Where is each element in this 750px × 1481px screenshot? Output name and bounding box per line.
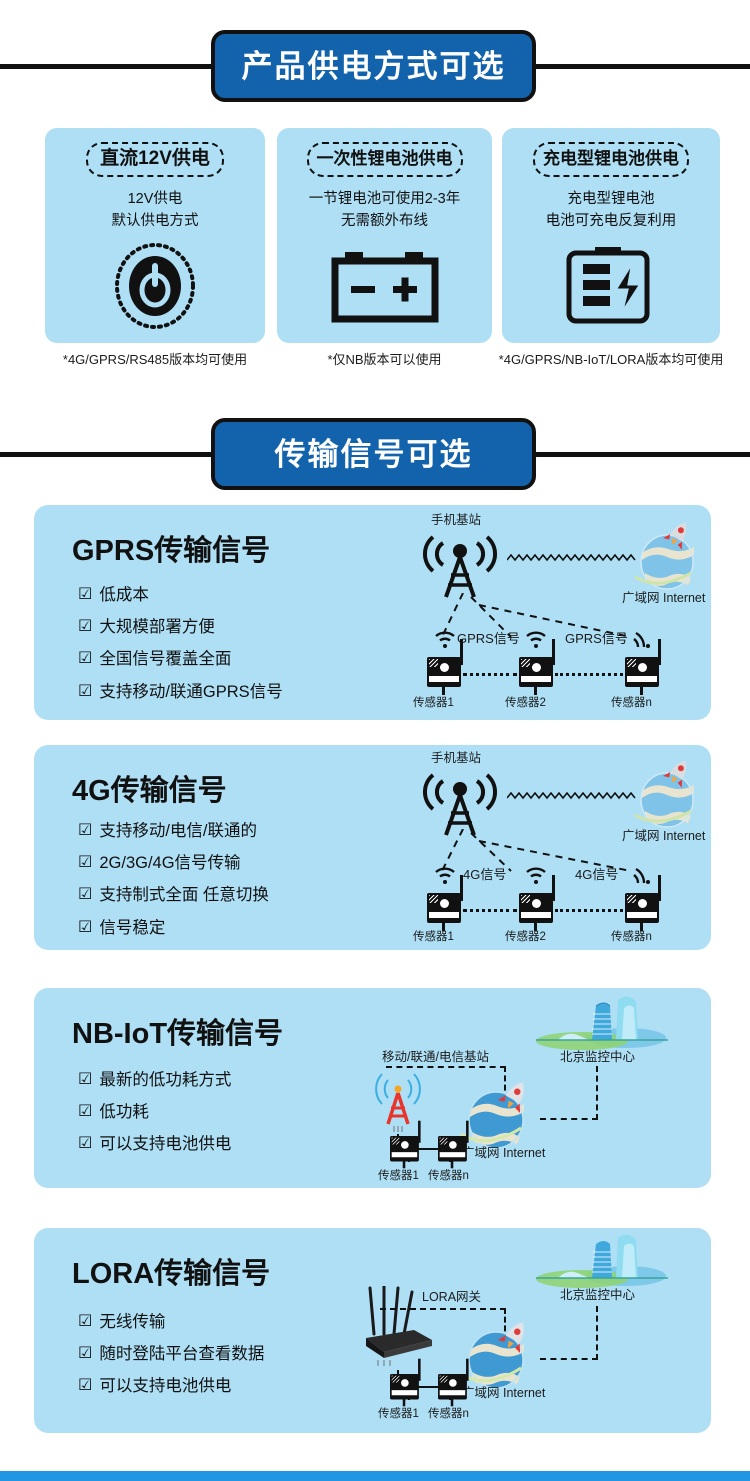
- bullet-label: 2G/3G/4G信号传输: [99, 847, 240, 879]
- panel-bullet-list: ☑低成本 ☑大规模部署方便 ☑全国信号覆盖全面 ☑支持移动/联通GPRS信号: [78, 579, 283, 708]
- power-card-footnote: *4G/GPRS/NB-IoT/LORA版本均可使用: [497, 350, 725, 370]
- city-skyline-icon: [530, 994, 670, 1052]
- internet-label: 广域网 Internet: [462, 1146, 545, 1161]
- base-station-label: 移动/联通/电信基站: [382, 1050, 489, 1065]
- panel-title: 4G传输信号: [72, 767, 227, 809]
- bottom-accent-bar: [0, 1471, 750, 1481]
- checkbox-icon: ☑: [78, 912, 92, 943]
- sensor-label: 传感器1: [413, 697, 454, 711]
- list-item: ☑2G/3G/4G信号传输: [78, 847, 269, 879]
- power-card-footnote: *4G/GPRS/RS485版本均可使用: [45, 350, 265, 370]
- checkbox-icon: ☑: [78, 643, 92, 674]
- panel-bullet-list: ☑最新的低功耗方式 ☑低功耗 ☑可以支持电池供电: [78, 1064, 231, 1161]
- bullet-label: 可以支持电池供电: [99, 1370, 231, 1402]
- power-card-dc12v: 直流12V供电 12V供电 默认供电方式: [45, 128, 265, 343]
- checkbox-icon: ☑: [78, 1096, 92, 1127]
- checkbox-icon: ☑: [78, 1370, 92, 1401]
- sensor-chain-link: [463, 909, 517, 912]
- power-card-title: 直流12V供电: [86, 142, 224, 177]
- center-link-v: [596, 1066, 598, 1120]
- panel-title: GPRS传输信号: [72, 527, 270, 569]
- signal-banner-title: 传输信号可选: [275, 439, 473, 470]
- signal-panel-gprs: GPRS传输信号 ☑低成本 ☑大规模部署方便 ☑全国信号覆盖全面 ☑支持移动/联…: [34, 505, 711, 720]
- signal-panel-nbiot: NB-IoT传输信号 ☑最新的低功耗方式 ☑低功耗 ☑可以支持电池供电: [34, 988, 711, 1188]
- list-item: ☑全国信号覆盖全面: [78, 643, 283, 675]
- checkbox-icon: ☑: [78, 611, 92, 642]
- bullet-label: 低功耗: [99, 1096, 149, 1128]
- list-item: ☑支持制式全面 任意切换: [78, 879, 269, 911]
- sensor-label: 传感器2: [505, 931, 546, 945]
- sensor-device: [438, 1374, 467, 1400]
- bullet-label: 支持制式全面 任意切换: [99, 879, 269, 911]
- list-item: ☑无线传输: [78, 1306, 264, 1338]
- sensor-device: [438, 1136, 467, 1162]
- power-card-title: 一次性锂电池供电: [307, 142, 463, 177]
- internet-globe-icon: [629, 515, 707, 595]
- checkbox-icon: ☑: [78, 1064, 92, 1095]
- bullet-label: 大规模部署方便: [99, 611, 215, 643]
- list-item: ☑大规模部署方便: [78, 611, 283, 643]
- power-card-description: 12V供电 默认供电方式: [112, 188, 199, 233]
- power-button-icon: [45, 243, 265, 329]
- bullet-label: 信号稳定: [99, 912, 165, 944]
- checkbox-icon: ☑: [78, 879, 92, 910]
- center-link-v: [596, 1306, 598, 1360]
- internet-globe-icon: [629, 753, 707, 833]
- sensor-device: [625, 657, 659, 687]
- bullet-label: 支持移动/联通GPRS信号: [99, 676, 282, 708]
- list-item: ☑信号稳定: [78, 912, 269, 944]
- power-banner-title: 产品供电方式可选: [242, 51, 506, 82]
- bullet-label: 支持移动/电信/联通的: [99, 815, 257, 847]
- signal-section-banner: 传输信号可选: [0, 408, 750, 500]
- signal-label: GPRS信号: [565, 631, 628, 647]
- power-card-description: 充电型锂电池 电池可充电反复利用: [546, 188, 677, 233]
- list-item: ☑支持移动/电信/联通的: [78, 815, 269, 847]
- tower-label: 手机基站: [431, 513, 481, 528]
- power-card-title: 充电型锂电池供电: [533, 142, 689, 177]
- sensor-device: [519, 657, 553, 687]
- wifi-icon: [434, 631, 456, 649]
- city-skyline-icon: [530, 1232, 670, 1290]
- checkbox-icon: ☑: [78, 579, 92, 610]
- internet-globe-icon: [456, 1314, 554, 1396]
- power-card-primary-lithium: 一次性锂电池供电 一节锂电池可使用2-3年 无需额外布线: [277, 128, 492, 343]
- lora-network-diagram: 北京监控中心 LORA网关: [334, 1228, 711, 1433]
- checkbox-icon: ☑: [78, 815, 92, 846]
- list-item: ☑随时登陆平台查看数据: [78, 1338, 264, 1370]
- wifi-icon: [434, 867, 456, 885]
- base-station-link-h: [386, 1066, 506, 1068]
- list-item: ☑支持移动/联通GPRS信号: [78, 676, 283, 708]
- monitoring-center-label: 北京监控中心: [560, 1050, 635, 1065]
- checkbox-icon: ☑: [78, 1306, 92, 1337]
- sensor-chain-link: [463, 673, 517, 676]
- bullet-label: 可以支持电池供电: [99, 1128, 231, 1160]
- bullet-label: 无线传输: [99, 1306, 165, 1338]
- bullet-label: 最新的低功耗方式: [99, 1064, 231, 1096]
- checkbox-icon: ☑: [78, 1128, 92, 1159]
- monitoring-center-label: 北京监控中心: [560, 1288, 635, 1303]
- sensor-device: [519, 893, 553, 923]
- sensor-device: [625, 893, 659, 923]
- sensor-label: 传感器1: [378, 1408, 419, 1422]
- signal-banner-box: 传输信号可选: [211, 418, 536, 490]
- tower-to-internet-link: [507, 551, 637, 565]
- infographic-page: 产品供电方式可选 直流12V供电 12V供电 默认供电方式 一次性锂电池供电 一…: [0, 0, 750, 1481]
- list-item: ☑最新的低功耗方式: [78, 1064, 231, 1096]
- signal-panel-4g: 4G传输信号 ☑支持移动/电信/联通的 ☑2G/3G/4G信号传输 ☑支持制式全…: [34, 745, 711, 950]
- wifi-icon: [525, 867, 547, 885]
- list-item: ☑可以支持电池供电: [78, 1370, 264, 1402]
- sensor-chain-link: [555, 909, 623, 912]
- signal-label: 4G信号: [575, 867, 618, 883]
- sensor-device: [390, 1374, 419, 1400]
- panel-title: LORA传输信号: [72, 1250, 270, 1292]
- sensor-label: 传感器2: [505, 697, 546, 711]
- power-card-rechargeable-lithium: 充电型锂电池供电 充电型锂电池 电池可充电反复利用: [502, 128, 720, 343]
- wifi-icon: [525, 631, 547, 649]
- sensor-device: [427, 657, 461, 687]
- sensor-label: 传感器1: [378, 1170, 419, 1184]
- sensor-label: 传感器1: [413, 931, 454, 945]
- gateway-link-h: [380, 1308, 506, 1310]
- sensor-label: 传感器n: [611, 931, 652, 945]
- sensor-label: 传感器n: [611, 697, 652, 711]
- sensor-device: [390, 1136, 419, 1162]
- checkbox-icon: ☑: [78, 847, 92, 878]
- power-section-banner: 产品供电方式可选: [0, 20, 750, 112]
- panel-bullet-list: ☑支持移动/电信/联通的 ☑2G/3G/4G信号传输 ☑支持制式全面 任意切换 …: [78, 815, 269, 944]
- power-card-footnote: *仅NB版本可以使用: [277, 350, 492, 370]
- wifi-icon: [632, 867, 654, 885]
- power-banner-box: 产品供电方式可选: [211, 30, 536, 102]
- sensor-label: 传感器n: [428, 1408, 469, 1422]
- nbiot-network-diagram: 移动/联通/电信基站 北京监控中心: [334, 988, 711, 1188]
- wifi-icon: [632, 631, 654, 649]
- power-cards-row: 直流12V供电 12V供电 默认供电方式 一次性锂电池供电 一节锂电池可使用2-…: [0, 128, 750, 343]
- lora-gateway-icon: [356, 1286, 440, 1368]
- sensor-label: 传感器n: [428, 1170, 469, 1184]
- cell-tower-icon: [415, 529, 515, 601]
- rechargeable-battery-icon: [502, 243, 720, 329]
- fourg-network-diagram: 手机基站: [379, 745, 711, 950]
- internet-globe-icon: [456, 1074, 554, 1156]
- sensor-device: [427, 893, 461, 923]
- bullet-label: 低成本: [99, 579, 149, 611]
- list-item: ☑可以支持电池供电: [78, 1128, 231, 1160]
- checkbox-icon: ☑: [78, 676, 92, 707]
- sensor-chain-link: [555, 673, 623, 676]
- power-card-description: 一节锂电池可使用2-3年 无需额外布线: [309, 188, 460, 233]
- gprs-network-diagram: 手机基站: [379, 505, 711, 720]
- car-battery-icon: [277, 243, 492, 329]
- tower-to-internet-link: [507, 789, 637, 803]
- panel-bullet-list: ☑无线传输 ☑随时登陆平台查看数据 ☑可以支持电池供电: [78, 1306, 264, 1403]
- tower-label: 手机基站: [431, 751, 481, 766]
- list-item: ☑低功耗: [78, 1096, 231, 1128]
- panel-title: NB-IoT传输信号: [72, 1010, 283, 1052]
- signal-panel-lora: LORA传输信号 ☑无线传输 ☑随时登陆平台查看数据 ☑可以支持电池供电: [34, 1228, 711, 1433]
- signal-label: 4G信号: [463, 867, 506, 883]
- bullet-label: 全国信号覆盖全面: [99, 643, 231, 675]
- list-item: ☑低成本: [78, 579, 283, 611]
- signal-label: GPRS信号: [457, 631, 520, 647]
- bullet-label: 随时登陆平台查看数据: [99, 1338, 264, 1370]
- internet-label: 广域网 Internet: [462, 1386, 545, 1401]
- checkbox-icon: ☑: [78, 1338, 92, 1369]
